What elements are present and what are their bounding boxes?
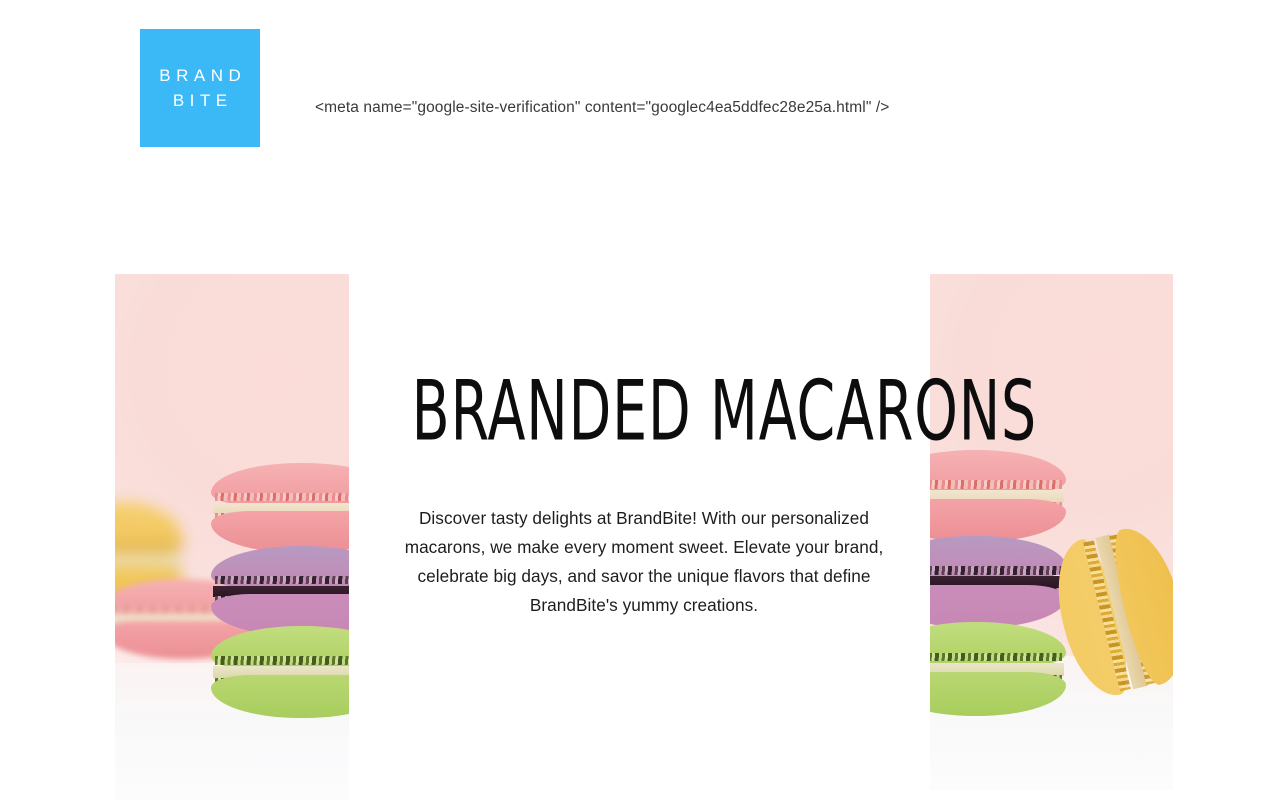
hero-content: BRANDED MACARONS Discover tasty delights… [380,274,908,620]
google-site-verification-meta-text: <meta name="google-site-verification" co… [315,99,889,117]
macaron-green-stack [930,622,1066,716]
macaron-purple-stack [211,546,349,636]
logo-line-brand: BRAND [154,63,247,88]
macaron-photo-right [930,274,1173,790]
page-title: BRANDED MACARONS [412,370,877,453]
macaron-green-stack [211,626,349,718]
brandbite-logo[interactable]: BRAND BITE [140,29,260,147]
macaron-pink-stack [211,463,349,553]
site-header: BRAND BITE <meta name="google-site-verif… [0,0,1280,260]
macaron-purple-stack [930,536,1066,628]
page-root: BRAND BITE <meta name="google-site-verif… [0,0,1280,800]
hero-paragraph: Discover tasty delights at BrandBite! Wi… [380,504,908,620]
macaron-pink-stack [930,450,1066,542]
logo-line-bite: BITE [167,88,232,113]
macaron-photo-left [115,274,349,800]
